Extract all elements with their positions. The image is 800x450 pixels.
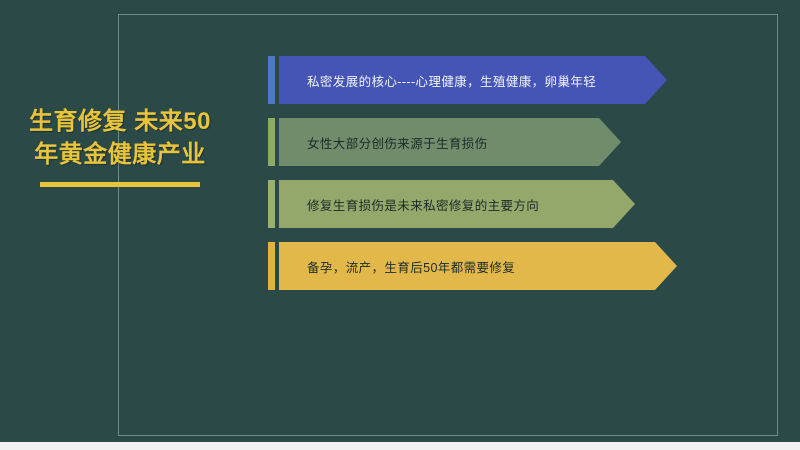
arrow-label: 修复生育损伤是未来私密修复的主要方向: [279, 180, 635, 228]
arrow-accent-bar: [268, 242, 275, 290]
arrow-accent-bar: [268, 180, 275, 228]
slide-canvas: 生育修复 未来50年黄金健康产业 私密发展的核心----心理健康，生殖健康，卵巢…: [0, 0, 800, 450]
arrow-label: 女性大部分创伤来源于生育损伤: [279, 118, 621, 166]
bottom-strip: [0, 442, 800, 450]
list-item: 修复生育损伤是未来私密修复的主要方向: [268, 180, 688, 228]
arrow-label: 备孕，流产，生育后50年都需要修复: [279, 242, 677, 290]
list-item: 女性大部分创伤来源于生育损伤: [268, 118, 688, 166]
title-underline: [40, 182, 200, 187]
arrow-accent-bar: [268, 118, 275, 166]
list-item: 私密发展的核心----心理健康，生殖健康，卵巢年轻: [268, 56, 688, 104]
page-title: 生育修复 未来50年黄金健康产业: [20, 105, 220, 171]
list-item: 备孕，流产，生育后50年都需要修复: [268, 242, 688, 290]
arrow-list: 私密发展的核心----心理健康，生殖健康，卵巢年轻 女性大部分创伤来源于生育损伤…: [268, 56, 688, 304]
arrow-label: 私密发展的核心----心理健康，生殖健康，卵巢年轻: [279, 56, 667, 104]
arrow-accent-bar: [268, 56, 275, 104]
title-block: 生育修复 未来50年黄金健康产业: [20, 105, 220, 187]
